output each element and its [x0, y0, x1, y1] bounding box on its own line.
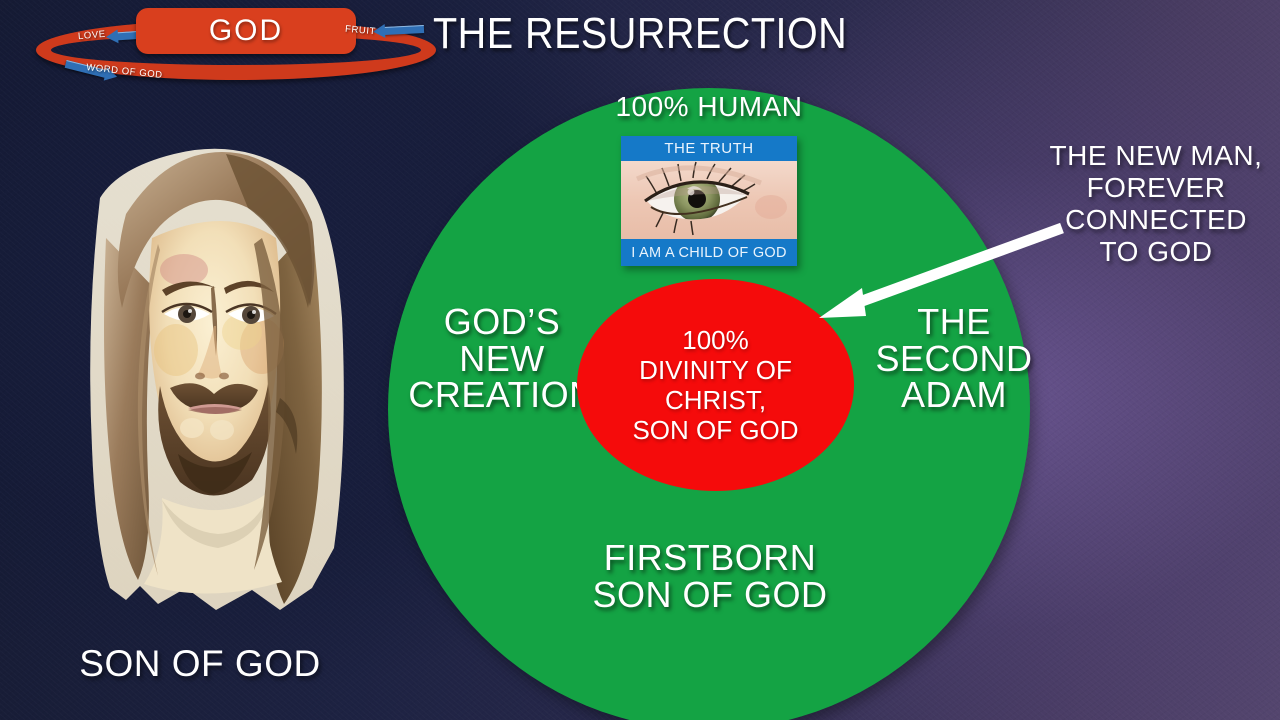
portrait-caption: SON OF GOD: [20, 645, 380, 683]
hundred-percent-human-label: 100% HUMAN: [388, 93, 1030, 122]
new-man-line-2: FOREVER: [1040, 172, 1272, 204]
jesus-portrait: [66, 118, 358, 638]
the-second-adam-line-2: SECOND: [866, 341, 1042, 378]
human-eye-photo: [621, 161, 797, 239]
gods-new-creation-line-2: NEW: [404, 341, 600, 378]
new-man-line-4: TO GOD: [1040, 236, 1272, 268]
firstborn-son-of-god-label: FIRSTBORN SON OF GOD: [480, 540, 940, 613]
the-truth-card-title: THE TRUTH: [621, 136, 797, 161]
new-man-line-3: CONNECTED: [1040, 204, 1272, 236]
the-second-adam-line-3: ADAM: [866, 377, 1042, 414]
divinity-text: 100% DIVINITY OF CHRIST, SON OF GOD: [632, 325, 798, 446]
firstborn-line-2: SON OF GOD: [480, 577, 940, 614]
new-man-line-1: THE NEW MAN,: [1040, 140, 1272, 172]
firstborn-line-1: FIRSTBORN: [480, 540, 940, 577]
divinity-line-1: 100%: [632, 325, 798, 355]
the-truth-card: THE TRUTH: [621, 136, 797, 266]
the-second-adam-line-1: THE: [866, 304, 1042, 341]
human-eye-svg: [621, 161, 797, 239]
slide-canvas: THE RESURRECTION GOD LOVE FRUIT WORD OF …: [0, 0, 1280, 720]
i-am-a-child-of-god-label: I AM A CHILD OF GOD: [621, 239, 797, 266]
god-banner: GOD LOVE FRUIT WORD OF GOD: [14, 4, 454, 90]
new-man-annotation: THE NEW MAN, FOREVER CONNECTED TO GOD: [1040, 140, 1272, 268]
jesus-portrait-svg: [66, 118, 358, 638]
divinity-line-4: SON OF GOD: [632, 415, 798, 445]
gods-new-creation-line-3: CREATION: [404, 377, 600, 414]
fruit-arrow: [384, 25, 424, 35]
divinity-line-3: CHRIST,: [632, 385, 798, 415]
red-ellipse: 100% DIVINITY OF CHRIST, SON OF GOD: [577, 279, 854, 491]
gods-new-creation-label: GOD’S NEW CREATION: [404, 304, 600, 414]
divinity-line-2: DIVINITY OF: [632, 355, 798, 385]
gods-new-creation-line-1: GOD’S: [404, 304, 600, 341]
the-second-adam-label: THE SECOND ADAM: [866, 304, 1042, 414]
god-box: GOD: [136, 8, 356, 54]
page-title-text: THE RESURRECTION: [433, 12, 847, 57]
god-box-label: GOD: [209, 14, 283, 48]
